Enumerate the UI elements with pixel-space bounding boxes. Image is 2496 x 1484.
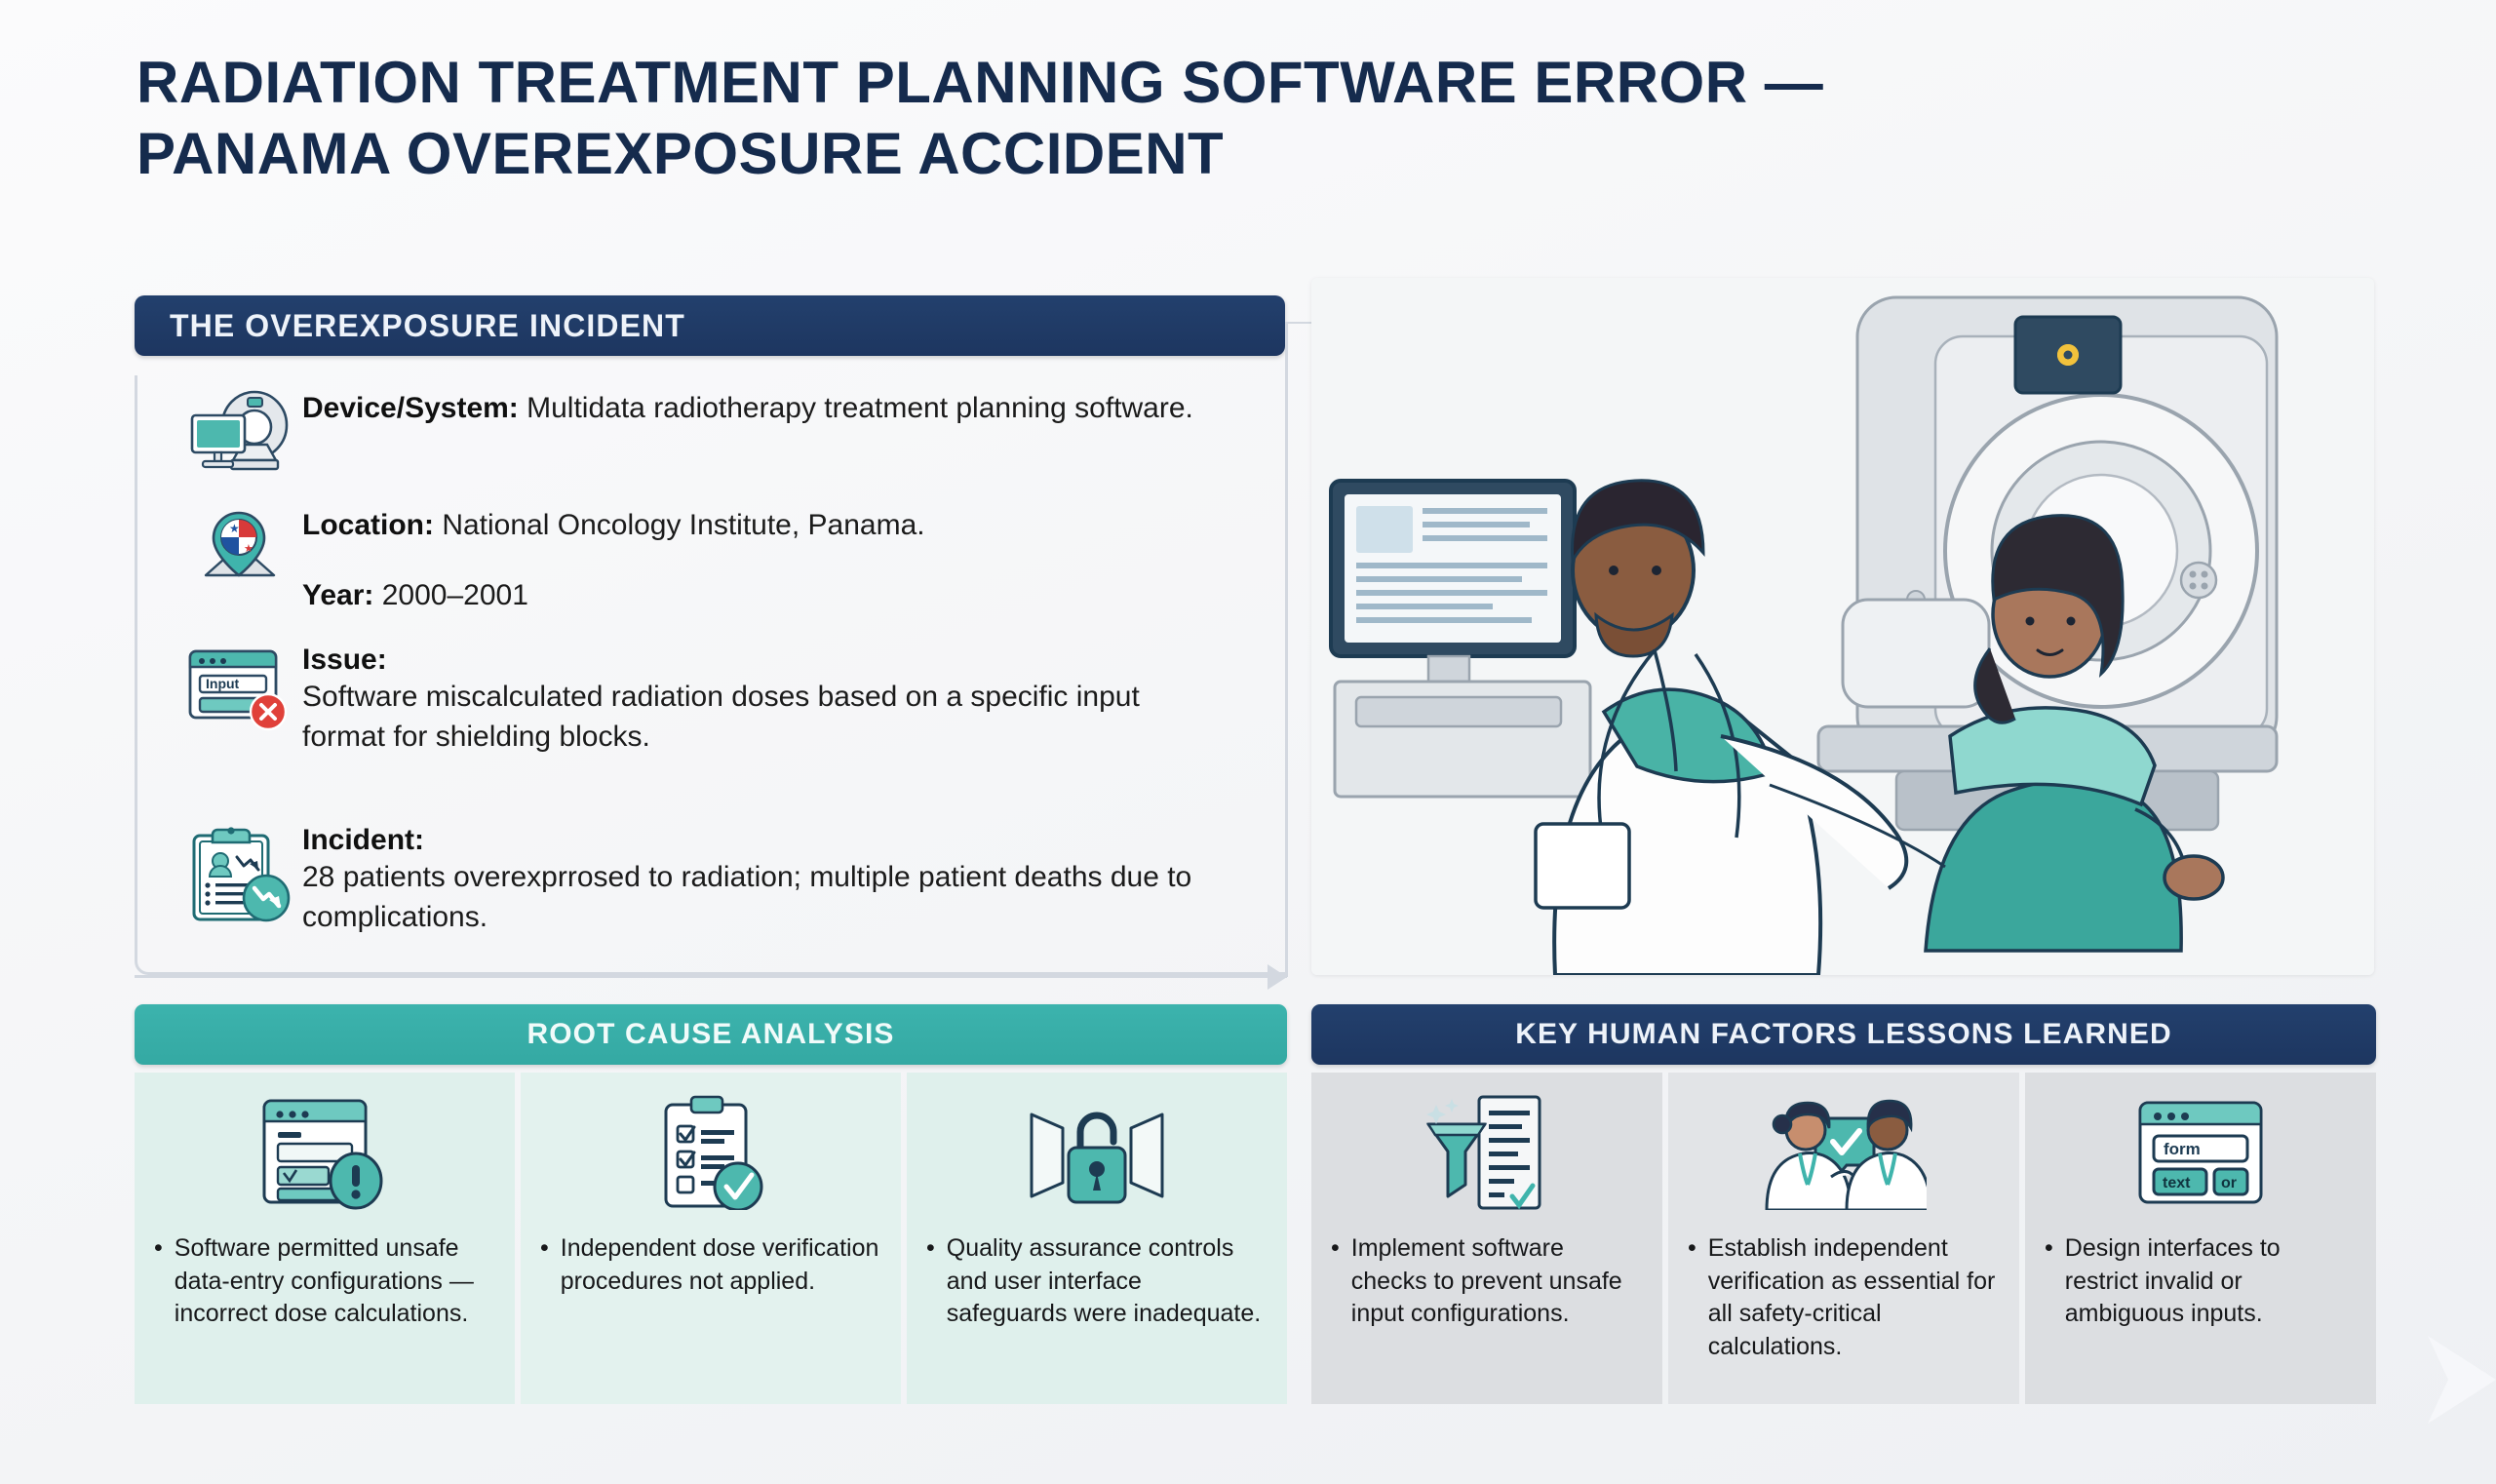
detail-row-location-value: National Oncology Institute, Panama. <box>434 509 925 541</box>
detail-row-year-value: 2000–2001 <box>373 579 528 611</box>
lessons-card-label: Design interfaces to restrict invalid or… <box>2065 1232 2357 1331</box>
bullet-icon: • <box>926 1232 935 1266</box>
root-cause-card: • Software permitted unsafe data-entry c… <box>135 1073 515 1404</box>
detail-row-year-label: Year: <box>302 579 373 611</box>
clipboard-patient-decline-icon <box>175 824 302 925</box>
detail-row-incident-text: Incident: 28 patients overexprrosed to r… <box>302 824 1219 937</box>
lessons-card-text: • Design interfaces to restrict invalid … <box>2045 1232 2357 1331</box>
root-cause-card-label: Software permitted unsafe data-entry con… <box>175 1232 495 1331</box>
ct-scanner-monitor-icon <box>175 388 302 482</box>
detail-row-device-text: Device/System: Multidata radiotherapy tr… <box>302 388 1193 428</box>
open-padlock-icon <box>1024 1094 1170 1211</box>
bullet-icon: • <box>1331 1232 1340 1266</box>
lessons-panel: Key Human Factors Lessons Learned <box>1311 1004 2376 1404</box>
input-form-error-icon: Input <box>175 644 302 733</box>
form-field-label-3: or <box>2221 1175 2237 1191</box>
root-cause-card-text: • Software permitted unsafe data-entry c… <box>154 1232 495 1331</box>
lessons-card-text: • Establish independent verification as … <box>1688 1232 2000 1363</box>
detail-row-device-label: Device/System: <box>302 392 519 424</box>
form-field-label-1: form <box>2164 1140 2201 1158</box>
svg-text:★: ★ <box>229 522 240 535</box>
root-cause-panel: Root Cause Analysis <box>135 1004 1287 1404</box>
bullet-icon: • <box>2045 1232 2053 1266</box>
lessons-panel-header-label: Key Human Factors Lessons Learned <box>1515 1018 2172 1051</box>
root-cause-card-label: Independent dose verification procedures… <box>561 1232 881 1298</box>
lessons-card: • Establish independent verification as … <box>1668 1073 2019 1404</box>
detail-row-year: Year: 2000–2001 <box>175 575 528 615</box>
doctor-with-patient-at-ct-scanner-illustration <box>1311 278 2374 975</box>
detail-row-incident-label: Incident: <box>302 824 1219 857</box>
bullet-icon: • <box>1688 1232 1696 1266</box>
detail-row-issue: Input Issue: Software miscalculated radi… <box>175 644 1219 757</box>
root-cause-panel-header-label: Root Cause Analysis <box>526 1018 894 1051</box>
lessons-panel-header: Key Human Factors Lessons Learned <box>1311 1004 2376 1065</box>
page-title: Radiation Treatment Planning Software Er… <box>136 47 2379 189</box>
root-cause-card-label: Quality assurance controls and user inte… <box>947 1232 1267 1331</box>
connector-arrow-head <box>1267 964 1287 990</box>
detail-row-issue-value: Software miscalculated radiation doses b… <box>302 677 1219 757</box>
bullet-icon: • <box>540 1232 549 1266</box>
two-clinicians-verify-icon <box>1761 1094 1927 1211</box>
incident-section-header: The Overexposure Incident <box>135 295 1285 356</box>
lessons-card-label: Establish independent verification as es… <box>1708 1232 2000 1363</box>
detail-row-device: Device/System: Multidata radiotherapy tr… <box>175 388 1193 482</box>
root-cause-card-text: • Quality assurance controls and user in… <box>926 1232 1267 1331</box>
detail-row-device-value: Multidata radiotherapy treatment plannin… <box>519 392 1193 424</box>
lessons-card-text: • Implement software checks to prevent u… <box>1331 1232 1643 1331</box>
root-cause-card: • Quality assurance controls and user in… <box>907 1073 1287 1404</box>
lessons-card-label: Implement software checks to prevent uns… <box>1351 1232 1643 1331</box>
detail-row-issue-label: Issue: <box>302 644 1219 677</box>
form-field-input-icon: form text or <box>2132 1094 2269 1211</box>
bullet-icon: • <box>154 1232 163 1266</box>
lessons-card: form text or • Design interfaces to rest… <box>2025 1073 2376 1404</box>
form-field-label-2: text <box>2163 1175 2191 1191</box>
detail-row-year-text: Year: 2000–2001 <box>302 575 528 615</box>
connector-line-bottom <box>135 975 1287 978</box>
lessons-card-list: • Implement software checks to prevent u… <box>1311 1073 2376 1404</box>
incident-section-header-label: The Overexposure Incident <box>170 308 685 344</box>
detail-row-location-label: Location: <box>302 509 434 541</box>
connector-line-right <box>1285 322 1288 977</box>
checklist-verified-icon <box>644 1094 777 1211</box>
title-line-1: Radiation Treatment Planning Software Er… <box>136 47 2379 118</box>
detail-row-incident-value: 28 patients overexprrosed to radiation; … <box>302 857 1219 937</box>
root-cause-card-text: • Independent dose verification procedur… <box>540 1232 881 1298</box>
decorative-arrow <box>2428 1336 2496 1424</box>
svg-text:Input: Input <box>206 676 240 691</box>
infographic-page: Radiation Treatment Planning Software Er… <box>0 0 2496 1484</box>
root-cause-card: • Independent dose verification procedur… <box>521 1073 901 1404</box>
svg-text:★: ★ <box>244 543 253 555</box>
detail-row-location-text: Location: National Oncology Institute, P… <box>302 505 925 545</box>
detail-row-incident: Incident: 28 patients overexprrosed to r… <box>175 824 1219 937</box>
root-cause-panel-header: Root Cause Analysis <box>135 1004 1287 1065</box>
form-warning-icon <box>258 1094 391 1211</box>
detail-row-issue-text: Issue: Software miscalculated radiation … <box>302 644 1219 757</box>
funnel-filter-document-icon <box>1419 1094 1555 1211</box>
title-line-2: Panama Overexposure Accident <box>136 118 2379 189</box>
root-cause-card-list: • Software permitted unsafe data-entry c… <box>135 1073 1287 1404</box>
lessons-card: • Implement software checks to prevent u… <box>1311 1073 1662 1404</box>
